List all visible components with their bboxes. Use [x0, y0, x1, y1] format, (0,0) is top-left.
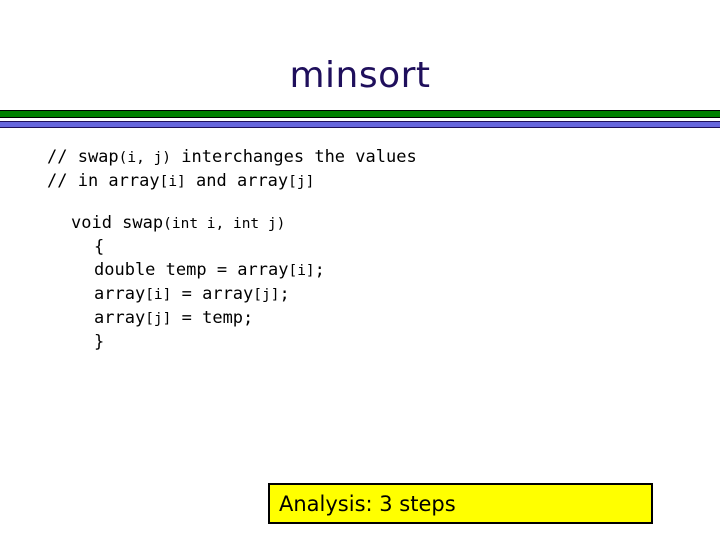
- comment-1-head: // swap: [47, 147, 119, 167]
- signature-head: void swap: [71, 213, 163, 233]
- body-1-index-i: [i]: [288, 263, 314, 279]
- body-2-head: array: [94, 284, 145, 304]
- body-2-index-j: [j]: [253, 287, 279, 303]
- code-close-brace: }: [47, 331, 667, 354]
- signature-params: (int i, int j): [163, 216, 285, 232]
- comment-1-tail: interchanges the values: [171, 147, 417, 167]
- code-open-brace: {: [47, 236, 667, 259]
- code-block: // swap(i, j) interchanges the values //…: [47, 146, 667, 354]
- code-body-line-2: array[i] = array[j];: [47, 283, 667, 307]
- body-1-tail: ;: [315, 260, 325, 280]
- body-3-index-j: [j]: [145, 311, 171, 327]
- title-divider: [0, 110, 720, 130]
- code-spacer: [47, 194, 667, 212]
- code-comment-line-1: // swap(i, j) interchanges the values: [47, 146, 667, 170]
- body-2-tail: ;: [279, 284, 289, 304]
- code-body-line-3: array[j] = temp;: [47, 307, 667, 331]
- analysis-callout-label: Analysis: 3 steps: [270, 492, 456, 516]
- page-title: minsort: [0, 54, 720, 98]
- body-2-index-i: [i]: [145, 287, 171, 303]
- body-3-head: array: [94, 308, 145, 328]
- comment-1-args: (i, j): [119, 150, 171, 166]
- body-1-head: double temp = array: [94, 260, 288, 280]
- body-2-mid: = array: [171, 284, 253, 304]
- comment-2-index-i: [i]: [160, 174, 186, 190]
- body-3-tail: = temp;: [171, 308, 253, 328]
- comment-2-index-j: [j]: [288, 174, 314, 190]
- divider-band-blue: [0, 121, 720, 128]
- comment-2-mid: and array: [186, 171, 288, 191]
- slide-canvas: minsort // swap(i, j) interchanges the v…: [0, 0, 720, 540]
- analysis-callout: Analysis: 3 steps: [268, 483, 653, 524]
- code-body-line-1: double temp = array[i];: [47, 259, 667, 283]
- comment-2-head: // in array: [47, 171, 160, 191]
- code-function-signature: void swap(int i, int j): [47, 212, 667, 236]
- divider-band-green: [0, 110, 720, 118]
- code-comment-line-2: // in array[i] and array[j]: [47, 170, 667, 194]
